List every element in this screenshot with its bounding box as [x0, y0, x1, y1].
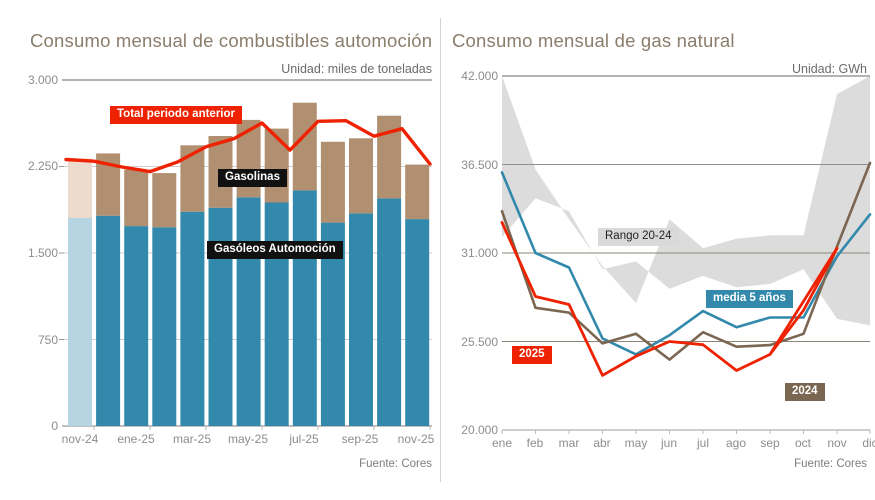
bar-gasoleos [377, 198, 401, 426]
source-label-gas: Fuente: Cores [794, 458, 867, 470]
bar-group [96, 153, 120, 426]
bar-group [152, 173, 176, 426]
bar-group [293, 103, 317, 426]
bar-group [349, 138, 373, 426]
bar-gasoleos [405, 219, 429, 426]
bar-group [405, 165, 429, 426]
bar-gasolinas [321, 142, 345, 223]
legend-2024: 2024 [785, 383, 825, 401]
bar-gasolinas [377, 116, 401, 199]
bar-gasolinas [152, 173, 176, 227]
bar-group [237, 120, 261, 426]
ytick-marks [59, 167, 64, 340]
legend-gasoleos-automocion: Gasóleos Automoción [207, 241, 343, 259]
source-label-combustibles: Fuente: Cores [359, 458, 432, 470]
bar-gasolinas [293, 103, 317, 191]
xtick-dic: dic [840, 436, 875, 450]
bar-group [377, 116, 401, 426]
legend-2025: 2025 [512, 346, 552, 364]
bar-gasoleos [293, 190, 317, 426]
panel-gas-natural: Consumo mensual de gas natural Unidad: G… [440, 0, 875, 500]
bar-gasoleos [180, 212, 204, 426]
bar-gasoleos [96, 216, 120, 426]
bar-gasoleos [265, 203, 289, 427]
bar-gasolinas [68, 159, 92, 218]
plot-area-combustibles [0, 0, 440, 460]
bar-group [180, 145, 204, 426]
bar-gasoleos [124, 226, 148, 426]
bar-gasoleos [349, 213, 373, 426]
bar-gasolinas [265, 129, 289, 203]
bar-gasolinas [124, 170, 148, 227]
bar-gasolinas [405, 165, 429, 220]
bar-gasoleos [68, 218, 92, 426]
bar-gasoleos [152, 227, 176, 426]
bar-gasolinas [349, 138, 373, 213]
bar-group [124, 170, 148, 426]
bar-group [321, 142, 345, 426]
bar-group [68, 159, 92, 426]
legend-media-5-anos: media 5 años [706, 290, 793, 308]
legend-total-periodo-anterior: Total periodo anterior [110, 106, 242, 124]
bar-gasoleos [237, 197, 261, 426]
legend-gasolinas: Gasolinas [218, 169, 287, 187]
legend-rango-20-24: Rango 20-24 [598, 228, 679, 246]
panel-combustibles: Consumo mensual de combustibles automoci… [0, 0, 440, 500]
